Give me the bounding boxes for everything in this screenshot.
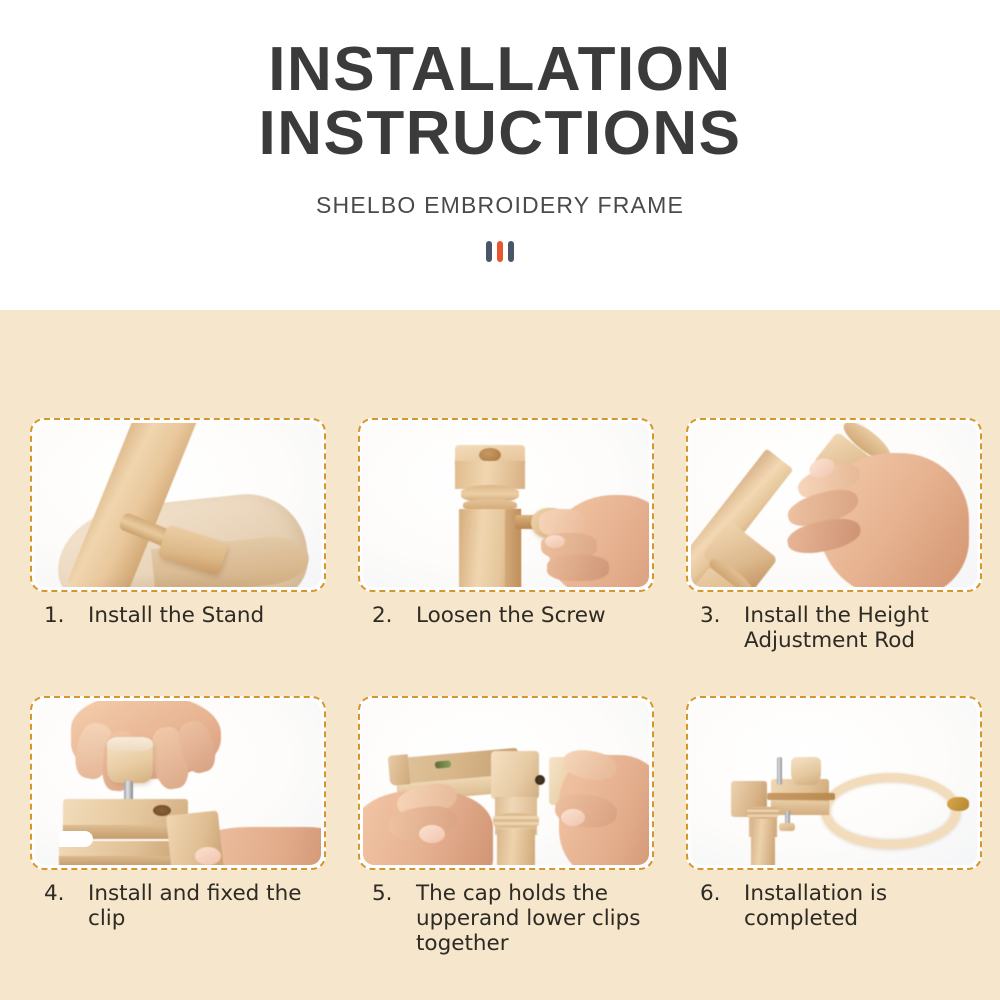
divider-ornament [486,241,514,262]
step-3-caption: 3. Install the Height Adjustment Rod [686,592,982,654]
page-title-line2: INSTRUCTIONS [259,102,742,166]
step-3-number: 3. [700,604,744,629]
completed-frame-with-hoop-photo [691,701,977,865]
hand-fixing-clip-knob-photo [35,701,321,865]
steps-grid: 1. Install the Stand [30,418,980,957]
step-card-4: 4. Install and fixed the clip [30,696,326,957]
page-title-line1: INSTALLATION [268,35,731,104]
step-6-text: Installation is completed [744,882,978,932]
steps-board: 1. Install the Stand [0,310,1000,1000]
hand-inserting-height-rod-photo [691,423,977,587]
step-6-number: 6. [700,882,744,907]
step-1-caption: 1. Install the Stand [30,592,326,629]
two-hands-cap-and-clips-photo [363,701,649,865]
step-6-image-frame [686,696,982,870]
step-card-2: 2. Loosen the Screw [358,418,654,654]
step-card-5: 5. The cap holds the upperand lower clip… [358,696,654,957]
divider-bar-1 [486,241,492,262]
step-card-3: 3. Install the Height Adjustment Rod [686,418,982,654]
divider-bar-3 [508,241,514,262]
stand-base-with-post-photo [35,423,321,587]
step-4-caption: 4. Install and fixed the clip [30,870,326,932]
step-card-6: 6. Installation is completed [686,696,982,957]
step-3-image-frame [686,418,982,592]
step-1-image-frame [30,418,326,592]
page-title: INSTALLATION INSTRUCTIONS [259,38,742,167]
hand-loosening-screw-photo [363,423,649,587]
header-banner: INSTALLATION INSTRUCTIONS SHELBO EMBROID… [0,0,1000,310]
step-4-number: 4. [44,882,88,907]
page-subtitle: SHELBO EMBROIDERY FRAME [316,192,684,219]
step-2-text: Loosen the Screw [416,604,650,629]
step-5-text: The cap holds the upperand lower clips t… [416,882,650,957]
step-2-image-frame [358,418,654,592]
step-6-caption: 6. Installation is completed [686,870,982,932]
step-5-number: 5. [372,882,416,907]
step-4-text: Install and fixed the clip [88,882,322,932]
step-5-image-frame [358,696,654,870]
divider-bar-2 [497,241,503,262]
step-1-text: Install the Stand [88,604,322,629]
step-1-number: 1. [44,604,88,629]
step-2-caption: 2. Loosen the Screw [358,592,654,629]
step-3-text: Install the Height Adjustment Rod [744,604,978,654]
step-2-number: 2. [372,604,416,629]
step-card-1: 1. Install the Stand [30,418,326,654]
step-5-caption: 5. The cap holds the upperand lower clip… [358,870,654,957]
step-4-image-frame [30,696,326,870]
